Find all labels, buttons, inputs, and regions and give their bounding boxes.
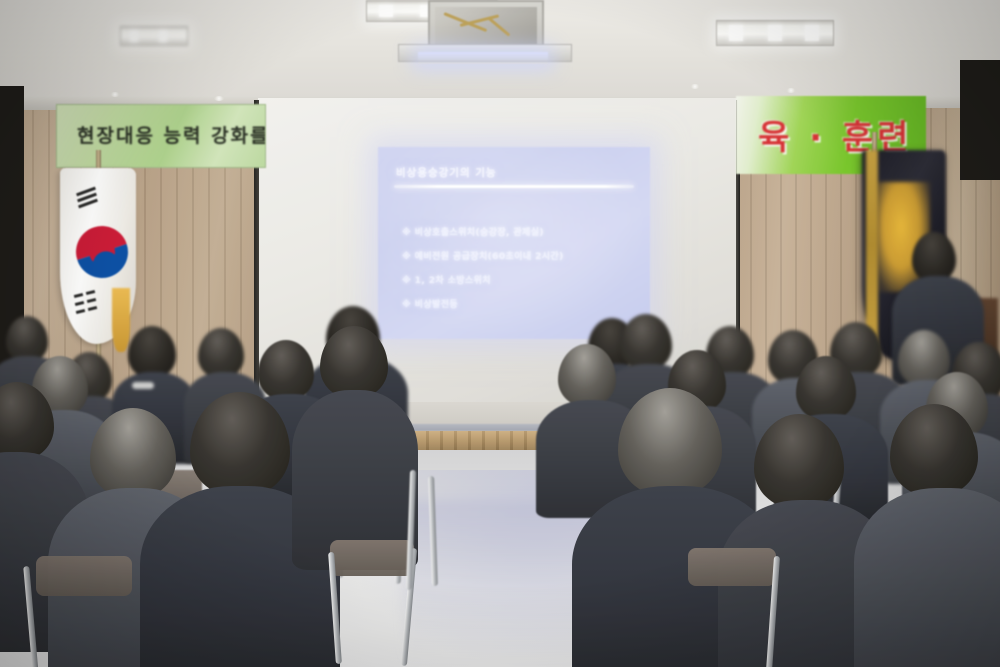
slide-bullet-3: ※ 1, 2차 소방스위치 bbox=[402, 273, 638, 286]
ceiling-downlight bbox=[110, 92, 120, 97]
dark-column-right bbox=[960, 60, 1000, 180]
banner-left-text: 현장대응 능력 강화를 bbox=[77, 121, 266, 148]
banner-left: 현장대응 능력 강화를 bbox=[56, 104, 266, 168]
auditorium-photo: 비상용승강기의 기능 ※ 비상호출스위치(승강장, 관제실) ※ 예비전원 공급… bbox=[0, 0, 1000, 667]
ceiling-downlight bbox=[214, 96, 224, 101]
slide-bullet-1: ※ 비상호출스위치(승강장, 관제실) bbox=[402, 225, 638, 238]
slide-bullet-4: ※ 비상발전등 bbox=[402, 297, 638, 310]
slide-title-underline bbox=[394, 185, 634, 188]
korean-national-flag bbox=[60, 168, 136, 344]
projected-slide: 비상용승강기의 기능 ※ 비상호출스위치(승강장, 관제실) ※ 예비전원 공급… bbox=[378, 147, 650, 339]
slide-bullet-2: ※ 예비전원 공급장치(60초이내 2시간) bbox=[402, 249, 638, 262]
slide-bullet-list: ※ 비상호출스위치(승강장, 관제실) ※ 예비전원 공급장치(60초이내 2시… bbox=[402, 225, 638, 321]
ceiling-projector bbox=[398, 0, 570, 60]
ceiling-downlight bbox=[786, 88, 796, 93]
slide-title: 비상용승강기의 기능 bbox=[396, 165, 497, 180]
ceiling-downlight bbox=[690, 84, 700, 89]
flag-fringe bbox=[112, 288, 130, 352]
projector-light-beam bbox=[418, 52, 548, 64]
ceiling-light-fixture bbox=[716, 20, 834, 46]
ceiling-light-fixture bbox=[120, 26, 188, 46]
